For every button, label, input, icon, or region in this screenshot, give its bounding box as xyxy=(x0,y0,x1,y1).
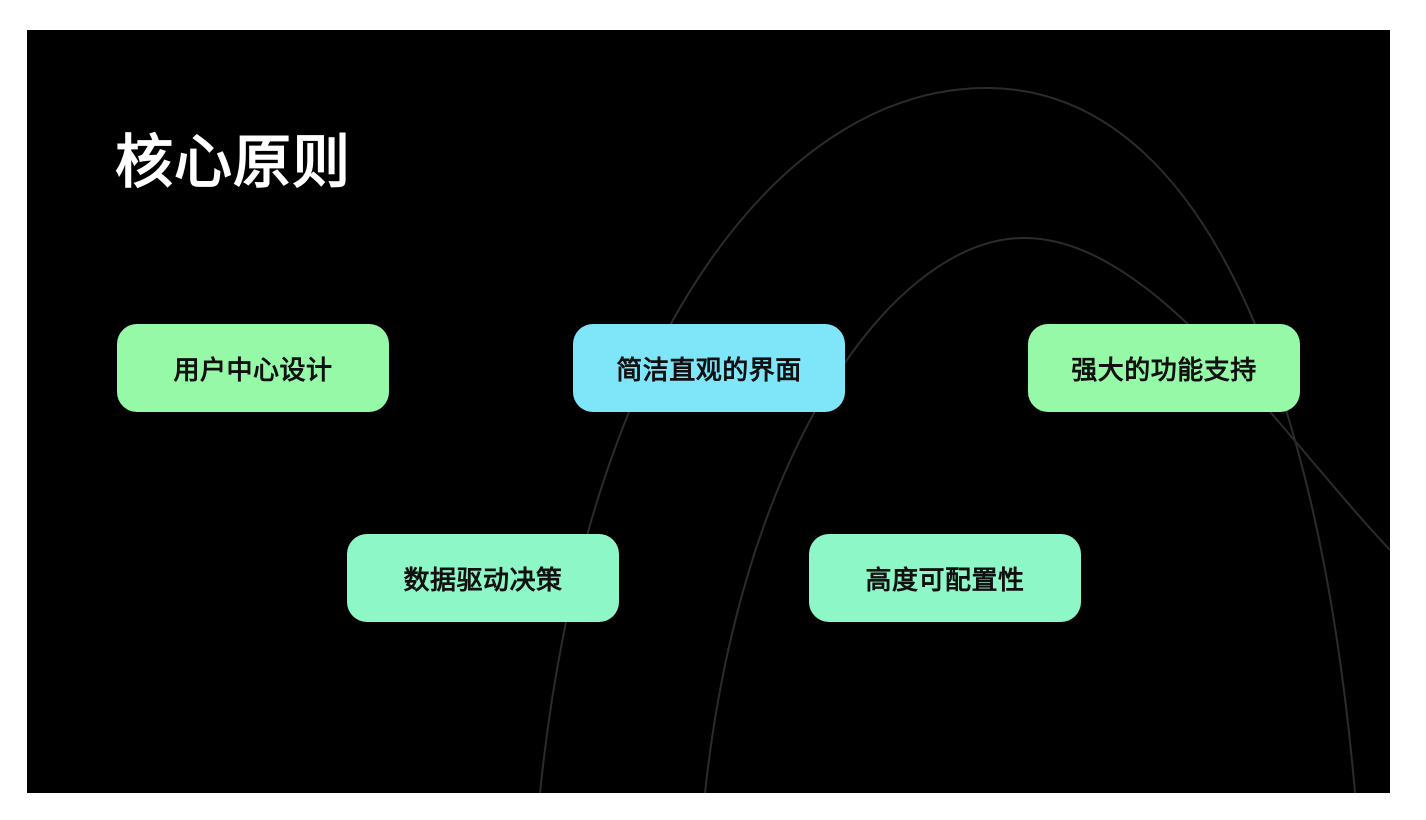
principle-pill-4-label: 数据驱动决策 xyxy=(403,560,562,597)
slide-canvas: 核心原则 用户中心设计 简洁直观的界面 强大的功能支持 数据驱动决策 高度可配置… xyxy=(27,30,1390,793)
principle-pill-4[interactable]: 数据驱动决策 xyxy=(347,534,619,622)
principle-pill-1-label: 用户中心设计 xyxy=(173,350,332,387)
principle-pill-2[interactable]: 简洁直观的界面 xyxy=(573,324,845,412)
principle-pill-3[interactable]: 强大的功能支持 xyxy=(1028,324,1300,412)
principle-pill-5[interactable]: 高度可配置性 xyxy=(809,534,1081,622)
principle-pill-1[interactable]: 用户中心设计 xyxy=(117,324,389,412)
arch-curve-outer xyxy=(540,88,1355,793)
page-title: 核心原则 xyxy=(115,130,351,197)
principle-pill-3-label: 强大的功能支持 xyxy=(1071,350,1257,387)
principle-pill-5-label: 高度可配置性 xyxy=(865,560,1024,597)
principle-pill-2-label: 简洁直观的界面 xyxy=(616,350,802,387)
arch-curve-inner xyxy=(705,238,1390,793)
